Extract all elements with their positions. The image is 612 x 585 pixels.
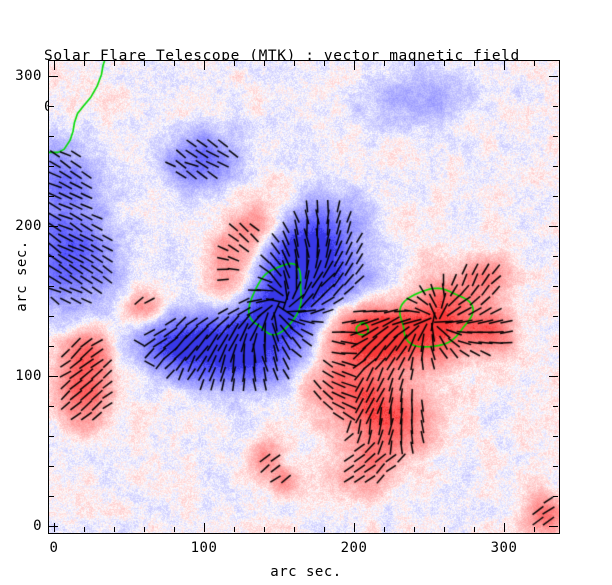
x-tick-top-220 (384, 61, 385, 66)
x-tick-top-60 (144, 61, 145, 66)
y-tick-300 (49, 76, 58, 77)
y-tick-120 (49, 346, 54, 347)
y-tick-40 (49, 466, 54, 467)
x-tick-top-320 (534, 61, 535, 66)
x-tick-label-300: 300 (464, 540, 544, 556)
x-tick-80 (174, 527, 175, 532)
x-tick-top-40 (114, 61, 115, 66)
y-tick-label-0: 0 (0, 518, 42, 534)
x-tick-240 (414, 527, 415, 532)
x-tick-top-20 (84, 61, 85, 66)
x-tick-200 (354, 523, 355, 532)
y-axis-title: arc sec. (14, 216, 30, 336)
y-tick-label-100: 100 (0, 368, 42, 384)
x-tick-top-260 (444, 61, 445, 66)
y-tick-right-40 (553, 466, 558, 467)
y-tick-220 (49, 196, 54, 197)
y-tick-140 (49, 316, 54, 317)
y-tick-label-300: 300 (0, 68, 42, 84)
y-tick-160 (49, 286, 54, 287)
x-tick-top-180 (324, 61, 325, 66)
x-tick-top-160 (294, 61, 295, 66)
y-tick-right-120 (553, 346, 558, 347)
x-tick-top-100 (204, 61, 205, 70)
x-tick-220 (384, 527, 385, 532)
x-tick-top-80 (174, 61, 175, 66)
y-tick-right-240 (553, 166, 558, 167)
y-tick-right-220 (553, 196, 558, 197)
x-tick-180 (324, 527, 325, 532)
y-tick-right-280 (553, 106, 558, 107)
x-tick-140 (264, 527, 265, 532)
y-tick-0 (49, 526, 58, 527)
y-tick-right-20 (553, 496, 558, 497)
y-tick-280 (49, 106, 54, 107)
y-tick-right-80 (553, 406, 558, 407)
x-tick-label-0: 0 (14, 540, 94, 556)
y-tick-240 (49, 166, 54, 167)
y-tick-180 (49, 256, 54, 257)
x-tick-top-300 (504, 61, 505, 70)
plot-area (48, 60, 560, 534)
y-tick-right-180 (553, 256, 558, 257)
y-tick-20 (49, 496, 54, 497)
x-tick-300 (504, 523, 505, 532)
y-tick-right-0 (549, 526, 558, 527)
y-tick-right-160 (553, 286, 558, 287)
y-tick-200 (49, 226, 58, 227)
y-tick-60 (49, 436, 54, 437)
x-tick-100 (204, 523, 205, 532)
y-tick-100 (49, 376, 58, 377)
y-tick-right-60 (553, 436, 558, 437)
x-tick-label-100: 100 (164, 540, 244, 556)
y-tick-right-260 (553, 136, 558, 137)
x-tick-0 (54, 523, 55, 532)
x-tick-top-280 (474, 61, 475, 66)
x-tick-40 (114, 527, 115, 532)
x-tick-160 (294, 527, 295, 532)
x-axis-title: arc sec. (0, 564, 612, 580)
magnetogram-image (49, 61, 559, 533)
x-tick-20 (84, 527, 85, 532)
x-tick-280 (474, 527, 475, 532)
y-tick-right-200 (549, 226, 558, 227)
x-tick-label-200: 200 (314, 540, 394, 556)
x-tick-260 (444, 527, 445, 532)
x-tick-top-240 (414, 61, 415, 66)
x-tick-top-0 (54, 61, 55, 70)
magnetogram-figure: Solar Flare Telescope (MTK) : vector mag… (0, 0, 612, 585)
y-tick-right-100 (549, 376, 558, 377)
y-tick-right-140 (553, 316, 558, 317)
x-tick-top-140 (264, 61, 265, 66)
x-tick-top-120 (234, 61, 235, 66)
y-tick-260 (49, 136, 54, 137)
y-tick-right-300 (549, 76, 558, 77)
x-tick-top-200 (354, 61, 355, 70)
y-tick-80 (49, 406, 54, 407)
x-tick-120 (234, 527, 235, 532)
x-tick-60 (144, 527, 145, 532)
x-tick-320 (534, 527, 535, 532)
